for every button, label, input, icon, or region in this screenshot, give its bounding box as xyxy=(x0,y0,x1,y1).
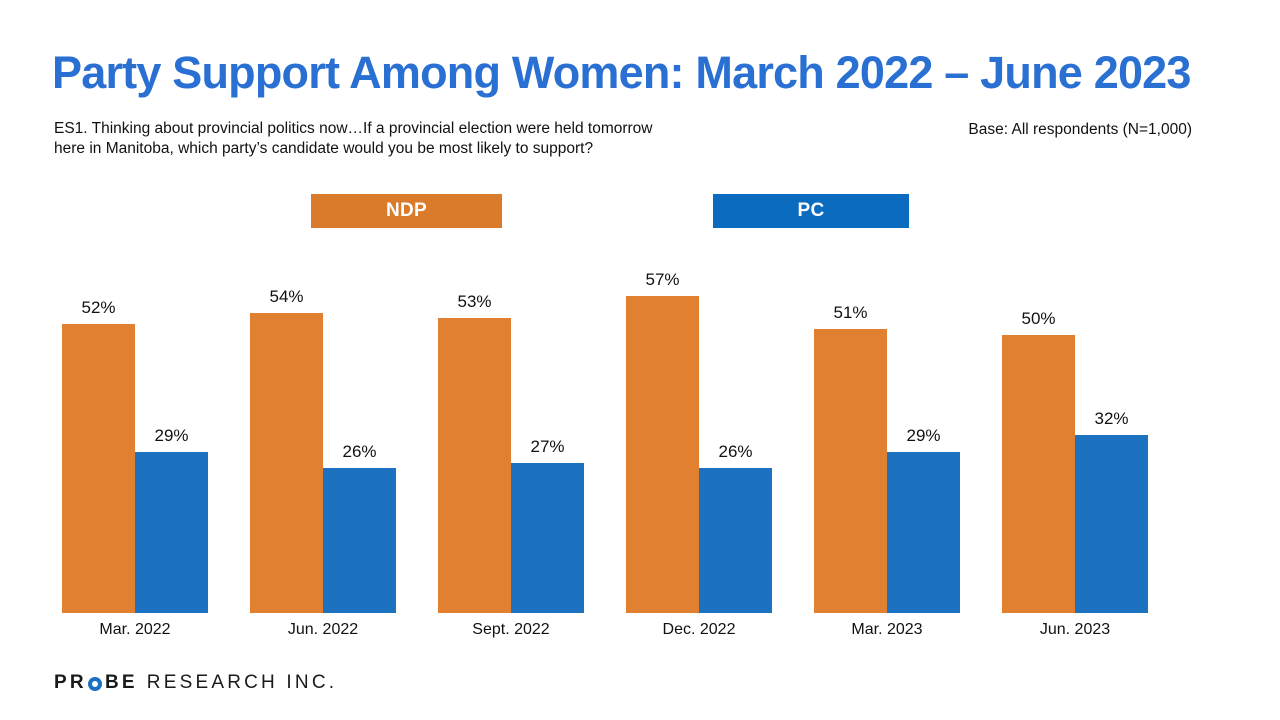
bar-pc-3[interactable] xyxy=(511,463,584,613)
logo-text-be: BE xyxy=(105,672,138,694)
x-axis-label-1: Mar. 2022 xyxy=(36,621,234,639)
bar-pc-6[interactable] xyxy=(1075,435,1148,613)
x-axis-label-2: Jun. 2022 xyxy=(224,621,422,639)
bar-value-label-ndp-1: 52% xyxy=(48,298,149,318)
bar-value-label-ndp-3: 53% xyxy=(424,292,525,312)
bar-value-label-pc-2: 26% xyxy=(309,442,410,462)
x-axis-label-6: Jun. 2023 xyxy=(976,621,1174,639)
bar-pc-2[interactable] xyxy=(323,468,396,613)
bar-value-label-ndp-6: 50% xyxy=(988,309,1089,329)
bar-value-label-ndp-2: 54% xyxy=(236,287,337,307)
bar-ndp-3[interactable] xyxy=(438,318,511,613)
bar-pc-1[interactable] xyxy=(135,452,208,613)
bar-ndp-1[interactable] xyxy=(62,324,135,613)
logo-ring-icon xyxy=(88,677,102,691)
bar-ndp-6[interactable] xyxy=(1002,335,1075,613)
bar-pc-5[interactable] xyxy=(887,452,960,613)
bar-ndp-2[interactable] xyxy=(250,313,323,613)
bar-value-label-pc-5: 29% xyxy=(873,426,974,446)
x-axis-label-4: Dec. 2022 xyxy=(600,621,798,639)
x-axis-label-5: Mar. 2023 xyxy=(788,621,986,639)
bar-pc-4[interactable] xyxy=(699,468,772,613)
bar-value-label-ndp-4: 57% xyxy=(612,270,713,290)
logo-text-research-inc: RESEARCH INC. xyxy=(147,672,337,694)
bar-ndp-5[interactable] xyxy=(814,329,887,613)
x-axis-label-3: Sept. 2022 xyxy=(412,621,610,639)
bar-value-label-pc-3: 27% xyxy=(497,437,598,457)
bar-value-label-pc-4: 26% xyxy=(685,442,786,462)
bar-value-label-pc-6: 32% xyxy=(1061,409,1162,429)
logo-text-pr: PR xyxy=(54,672,87,694)
bar-chart-plot-area: 52%29%Mar. 202254%26%Jun. 202253%27%Sept… xyxy=(0,0,1280,720)
bar-value-label-pc-1: 29% xyxy=(121,426,222,446)
probe-research-logo: PR BE RESEARCH INC. xyxy=(54,672,337,694)
bar-value-label-ndp-5: 51% xyxy=(800,303,901,323)
